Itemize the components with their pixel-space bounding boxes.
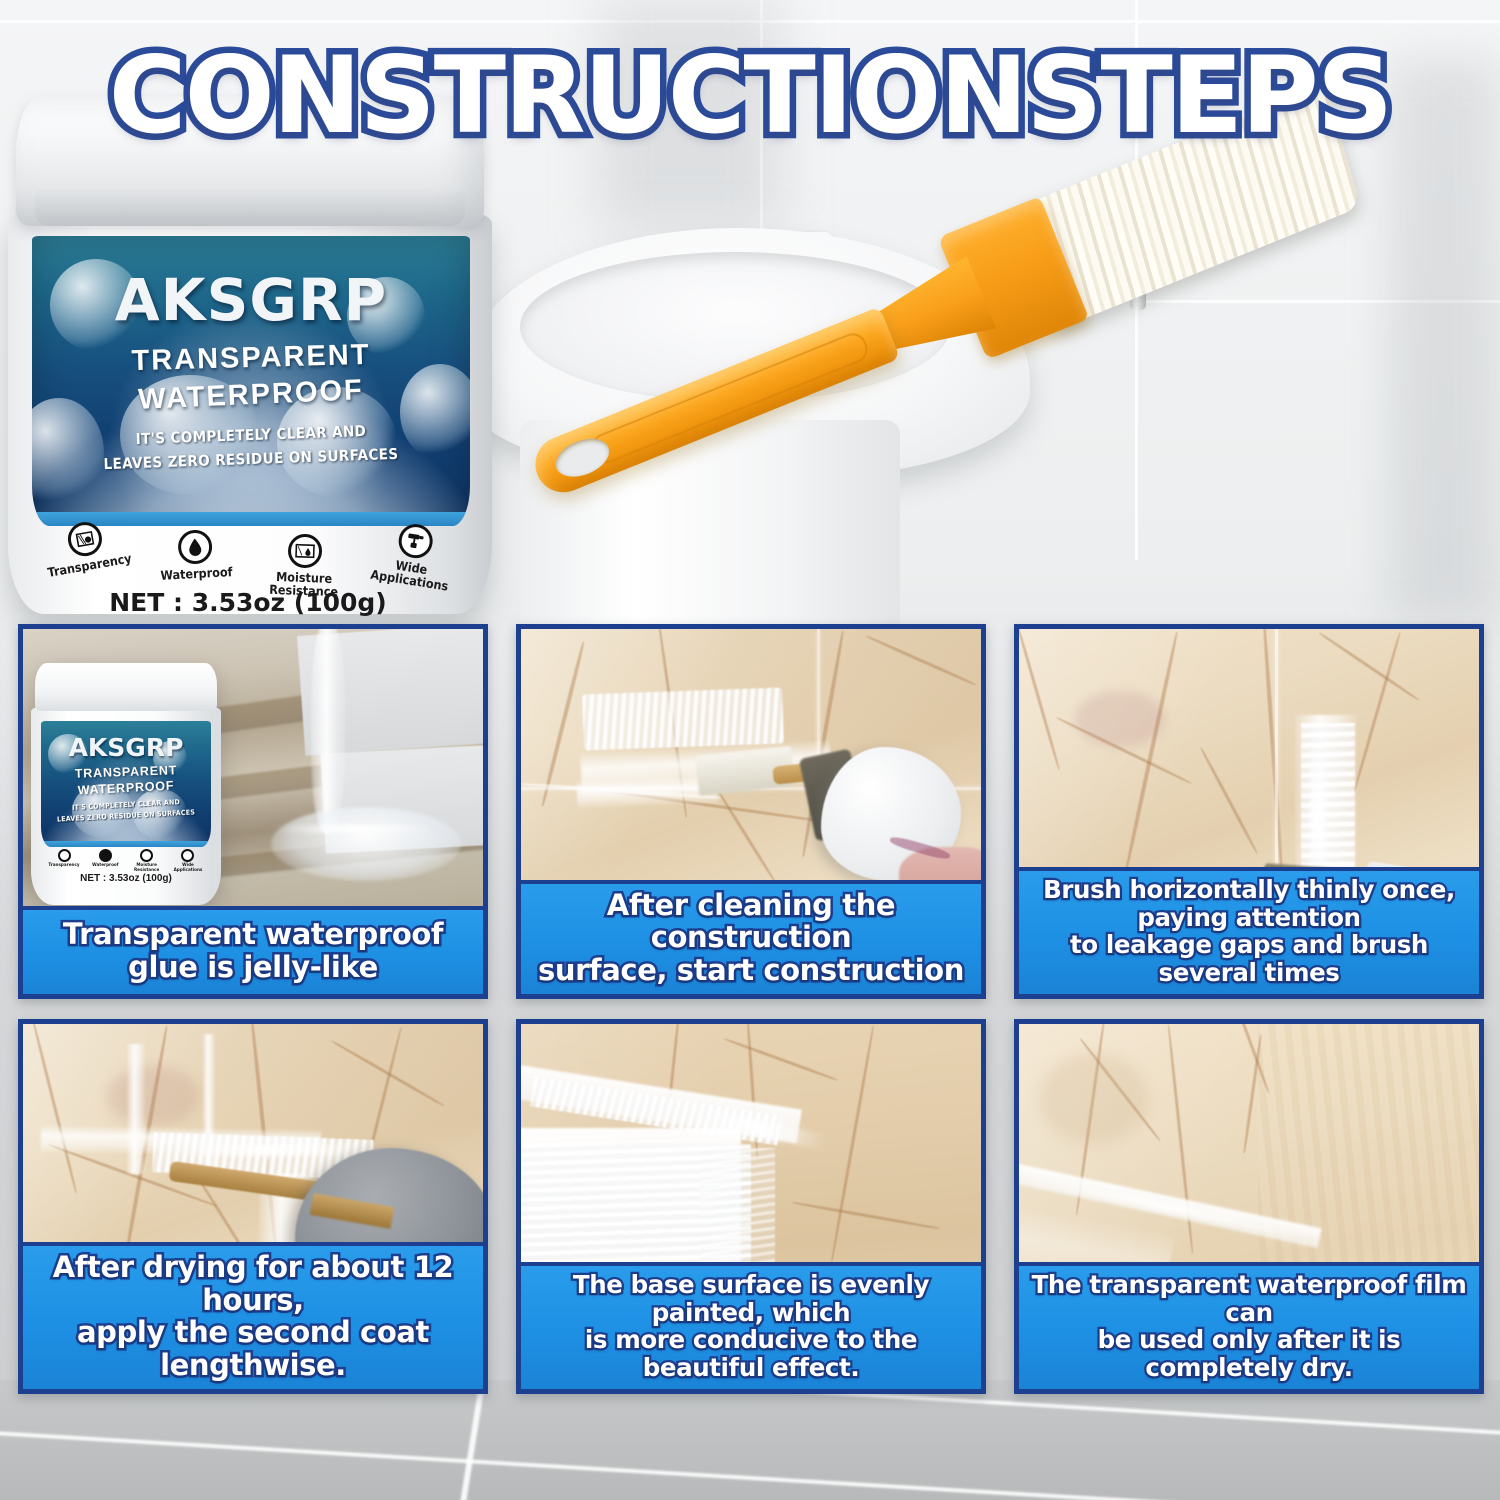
glue-pour [311, 629, 345, 833]
step-caption-4: After drying for about 12 hours, apply t… [23, 1242, 483, 1389]
caption-line: The transparent waterproof film can [1027, 1271, 1471, 1326]
caption-line: surface, start construction [529, 954, 973, 986]
jar-label: AKSGRP TRANSPARENT WATERPROOF IT'S COMPL… [32, 236, 470, 526]
feature-waterproof: Waterproof [147, 528, 245, 583]
brand-name-small: AKSGRP [41, 733, 211, 762]
feature-transparency: Transparency [35, 514, 138, 580]
moisture-resistance-icon [287, 533, 322, 568]
step-caption-1: Transparent waterproof glue is jelly-lik… [23, 906, 483, 994]
caption-line: apply the second coat lengthwise. [31, 1316, 475, 1381]
feature-wide-applications: Wide Applications [361, 517, 466, 594]
caption-line: Brush horizontally thinly once, paying a… [1027, 876, 1471, 931]
step-caption-3: Brush horizontally thinly once, paying a… [1019, 867, 1479, 994]
poster-canvas: CONSTRUCTIONSTEPS AKSGRP TRANSPARENT WAT… [0, 0, 1500, 1500]
paint-brush-icon [470, 225, 1460, 625]
wide-applications-icon [396, 522, 435, 561]
transparency-icon [58, 849, 71, 862]
moisture-resistance-icon [140, 849, 153, 862]
brand-name: AKSGRP [32, 266, 470, 334]
glue-puddle [271, 807, 461, 881]
step-panel-6[interactable]: The transparent waterproof film can be u… [1014, 1019, 1484, 1394]
caption-line: to leakage gaps and brush several times [1027, 931, 1471, 986]
caption-line: The base surface is evenly painted, whic… [529, 1271, 973, 1326]
caption-line: glue is jelly-like [63, 951, 443, 983]
glue-stripe-cross-v [127, 1044, 145, 1174]
step-panel-3[interactable]: Brush horizontally thinly once, paying a… [1014, 624, 1484, 999]
caption-line: is more conducive to the beautiful effec… [529, 1326, 973, 1381]
caption-line: be used only after it is completely dry. [1027, 1326, 1471, 1381]
feature-icon-row-small: Transparency Waterproof Moisture Resista… [45, 849, 207, 875]
feature-label: Waterproof [149, 564, 246, 582]
caption-line: After cleaning the construction [529, 889, 973, 954]
net-weight-small: NET : 3.53oz (100g) [31, 873, 221, 884]
step-caption-5: The base surface is evenly painted, whic… [521, 1262, 981, 1389]
product-jar: AKSGRP TRANSPARENT WATERPROOF IT'S COMPL… [8, 96, 488, 616]
caption-line: Transparent waterproof [63, 918, 443, 950]
transparency-icon [65, 519, 104, 558]
waterproof-icon [178, 529, 214, 565]
page-title: CONSTRUCTIONSTEPS [0, 34, 1500, 157]
step-panel-5[interactable]: The base surface is evenly painted, whic… [516, 1019, 986, 1394]
feature-icon-row: Transparency Waterproof Moisture Resista… [38, 520, 462, 590]
product-jar-small: AKSGRP TRANSPARENT WATERPROOF IT'S COMPL… [31, 663, 221, 905]
step-caption-2: After cleaning the construction surface,… [521, 880, 981, 994]
wide-applications-icon [181, 849, 194, 862]
step-panel-2[interactable]: After cleaning the construction surface,… [516, 624, 986, 999]
construction-steps-grid: AKSGRP TRANSPARENT WATERPROOF IT'S COMPL… [18, 624, 1484, 1394]
bathroom-floor [0, 1380, 1500, 1500]
glue-stroke [582, 688, 784, 751]
step-panel-4[interactable]: After drying for about 12 hours, apply t… [18, 1019, 488, 1394]
caption-line: After drying for about 12 hours, [31, 1251, 475, 1316]
net-weight: NET : 3.53oz (100g) [8, 588, 488, 617]
step-panel-1[interactable]: AKSGRP TRANSPARENT WATERPROOF IT'S COMPL… [18, 624, 488, 999]
waterproof-icon [99, 849, 112, 862]
step-caption-6: The transparent waterproof film can be u… [1019, 1262, 1479, 1389]
